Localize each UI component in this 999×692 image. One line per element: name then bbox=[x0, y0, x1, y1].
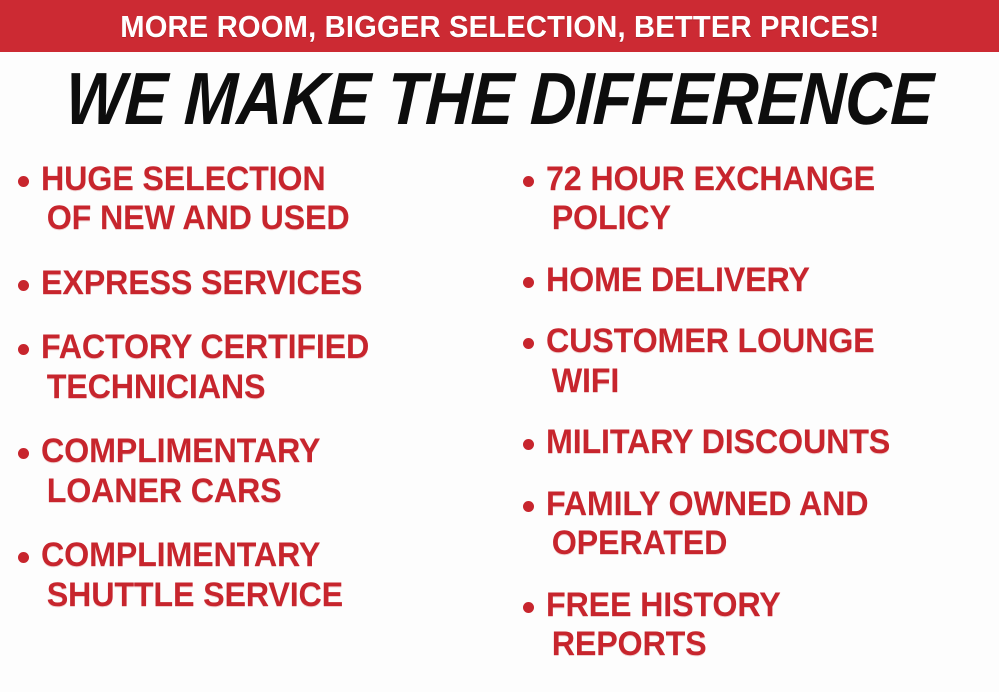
list-item-label: CUSTOMER LOUNGEWIFI bbox=[546, 322, 875, 401]
list-item-line: MILITARY DISCOUNTS bbox=[546, 423, 890, 462]
bullet-dot-icon bbox=[523, 338, 534, 349]
bullet-dot-icon bbox=[18, 280, 29, 291]
list-item-line: OF NEW AND USED bbox=[41, 199, 350, 238]
list-item: CUSTOMER LOUNGEWIFI bbox=[523, 322, 999, 401]
bullet-dot-icon bbox=[18, 552, 29, 563]
top-promo-banner-text: MORE ROOM, BIGGER SELECTION, BETTER PRIC… bbox=[120, 11, 879, 42]
list-item-line: OPERATED bbox=[546, 524, 868, 563]
list-item: FAMILY OWNED ANDOPERATED bbox=[523, 485, 999, 564]
benefits-columns: HUGE SELECTIONOF NEW AND USEDEXPRESS SER… bbox=[0, 150, 999, 692]
list-item-line: COMPLIMENTARY bbox=[41, 432, 320, 471]
list-item-label: COMPLIMENTARYLOANER CARS bbox=[41, 432, 320, 511]
benefits-column-right: 72 HOUR EXCHANGEPOLICYHOME DELIVERYCUSTO… bbox=[505, 150, 999, 692]
list-item-line: FREE HISTORY bbox=[546, 586, 781, 625]
bullet-dot-icon bbox=[523, 439, 534, 450]
list-item-line: EXPRESS SERVICES bbox=[41, 264, 362, 303]
top-promo-banner: MORE ROOM, BIGGER SELECTION, BETTER PRIC… bbox=[0, 0, 999, 52]
list-item-line: FACTORY CERTIFIED bbox=[41, 328, 369, 367]
list-item-line: FAMILY OWNED AND bbox=[546, 485, 868, 524]
list-item-label: HUGE SELECTIONOF NEW AND USED bbox=[41, 160, 350, 239]
list-item-label: HOME DELIVERY bbox=[546, 261, 810, 300]
list-item-label: FACTORY CERTIFIEDTECHNICIANS bbox=[41, 328, 369, 407]
list-item-line: CUSTOMER LOUNGE bbox=[546, 322, 875, 361]
list-item-label: MILITARY DISCOUNTS bbox=[546, 423, 890, 462]
list-item-line: SHUTTLE SERVICE bbox=[41, 576, 343, 615]
list-item-line: HOME DELIVERY bbox=[546, 261, 810, 300]
list-item-line: POLICY bbox=[546, 199, 875, 238]
list-item-label: 72 HOUR EXCHANGEPOLICY bbox=[546, 160, 875, 239]
list-item-line: 72 HOUR EXCHANGE bbox=[546, 160, 875, 199]
list-item-line: WIFI bbox=[546, 362, 875, 401]
list-item: FREE HISTORYREPORTS bbox=[523, 586, 999, 665]
list-item-line: COMPLIMENTARY bbox=[41, 536, 343, 575]
list-item-label: FAMILY OWNED ANDOPERATED bbox=[546, 485, 868, 564]
headline-container: WE MAKE THE DIFFERENCE bbox=[0, 58, 999, 140]
list-item: 72 HOUR EXCHANGEPOLICY bbox=[523, 160, 999, 239]
page-title: WE MAKE THE DIFFERENCE bbox=[64, 62, 935, 136]
benefits-column-left: HUGE SELECTIONOF NEW AND USEDEXPRESS SER… bbox=[0, 150, 505, 692]
list-item: COMPLIMENTARYSHUTTLE SERVICE bbox=[18, 536, 505, 615]
list-item-label: FREE HISTORYREPORTS bbox=[546, 586, 781, 665]
list-item: COMPLIMENTARYLOANER CARS bbox=[18, 432, 505, 511]
bullet-dot-icon bbox=[523, 277, 534, 288]
advertisement-root: MORE ROOM, BIGGER SELECTION, BETTER PRIC… bbox=[0, 0, 999, 692]
list-item: HUGE SELECTIONOF NEW AND USED bbox=[18, 160, 505, 239]
list-item: EXPRESS SERVICES bbox=[18, 264, 505, 303]
list-item-line: REPORTS bbox=[546, 625, 781, 664]
bullet-dot-icon bbox=[523, 176, 534, 187]
list-item: FACTORY CERTIFIEDTECHNICIANS bbox=[18, 328, 505, 407]
bullet-dot-icon bbox=[523, 602, 534, 613]
list-item: MILITARY DISCOUNTS bbox=[523, 423, 999, 462]
list-item-label: EXPRESS SERVICES bbox=[41, 264, 362, 303]
bullet-dot-icon bbox=[18, 448, 29, 459]
list-item: HOME DELIVERY bbox=[523, 261, 999, 300]
list-item-label: COMPLIMENTARYSHUTTLE SERVICE bbox=[41, 536, 343, 615]
list-item-line: LOANER CARS bbox=[41, 472, 320, 511]
list-item-line: TECHNICIANS bbox=[41, 368, 369, 407]
bullet-dot-icon bbox=[18, 344, 29, 355]
list-item-line: HUGE SELECTION bbox=[41, 160, 350, 199]
bullet-dot-icon bbox=[18, 176, 29, 187]
bullet-dot-icon bbox=[523, 501, 534, 512]
